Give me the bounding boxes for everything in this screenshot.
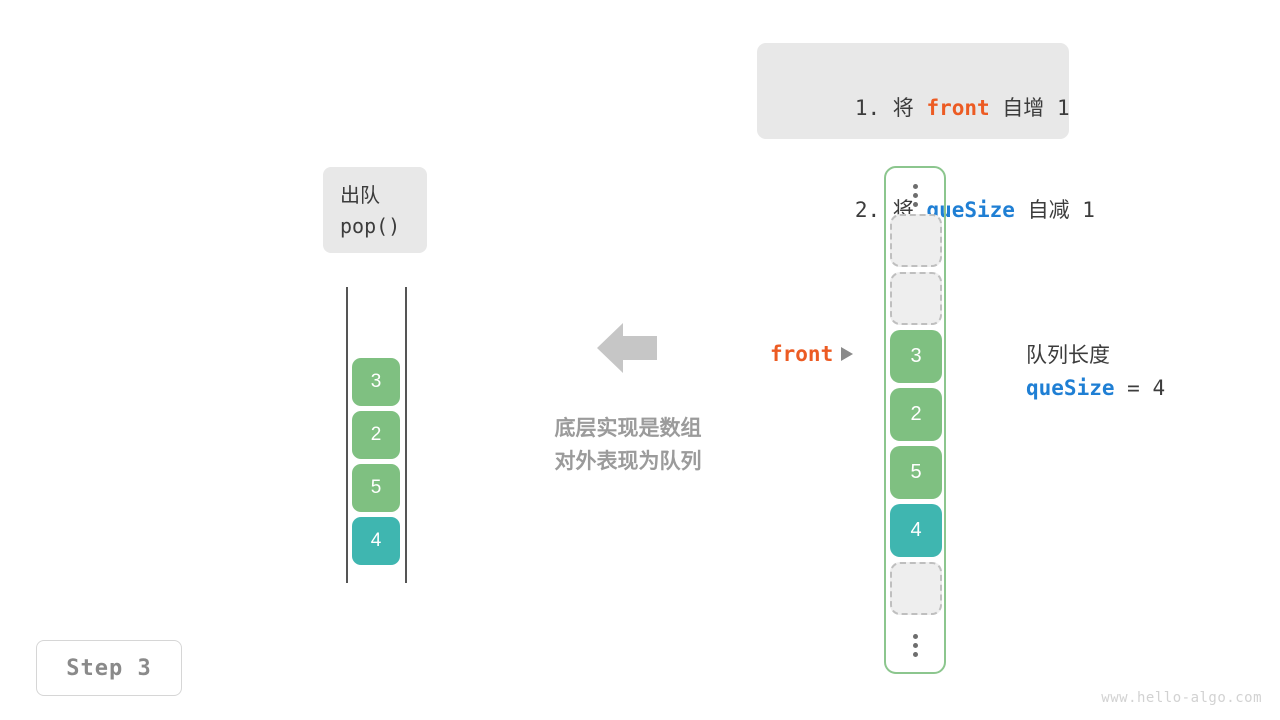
- array-cell: 4: [890, 504, 942, 557]
- vertical-ellipsis-icon: [886, 618, 944, 672]
- front-pointer-label: front: [770, 342, 833, 366]
- watermark: www.hello-algo.com: [1101, 690, 1262, 706]
- operation-label-line-2: pop(): [340, 211, 427, 242]
- queue-cells: 3 2 5 4: [352, 358, 400, 565]
- array-cell: 5: [890, 446, 942, 499]
- ellipsis-dot: [913, 202, 918, 207]
- explanation-line-1: 底层实现是数组: [528, 412, 728, 445]
- front-pointer: front: [770, 342, 853, 366]
- ellipsis-dot: [913, 643, 918, 648]
- left-arrow-icon: [597, 322, 657, 374]
- queue-rail-right: [405, 287, 407, 583]
- queue-cell: 5: [352, 464, 400, 512]
- ellipsis-dot: [913, 193, 918, 198]
- diagram-canvas: 1. 将 front 自增 1 2. 将 queSize 自减 1 出队 pop…: [0, 0, 1280, 720]
- instruction-line-1-keyword: front: [926, 96, 989, 120]
- array-cell: 3: [890, 330, 942, 383]
- ellipsis-dot: [913, 184, 918, 189]
- explanation-line-2: 对外表现为队列: [528, 445, 728, 478]
- ellipsis-dot: [913, 634, 918, 639]
- array-view: 3 2 5 4: [884, 166, 946, 674]
- instruction-line-1-suffix: 自增 1: [990, 96, 1070, 120]
- step-badge-label: Step 3: [66, 656, 151, 681]
- array-cell-empty: [890, 272, 942, 325]
- queue-cell: 2: [352, 411, 400, 459]
- explanation-text: 底层实现是数组 对外表现为队列: [528, 412, 728, 478]
- instruction-line-2-suffix: 自减 1: [1015, 198, 1095, 222]
- array-cell-empty: [890, 562, 942, 615]
- ellipsis-dot: [913, 652, 918, 657]
- queue-rail-left: [346, 287, 348, 583]
- instruction-line-1: 1. 将 front 自增 1: [779, 57, 1047, 159]
- queue-size-var: queSize: [1026, 376, 1115, 400]
- queue-size-value: = 4: [1115, 376, 1166, 400]
- instruction-line-1-prefix: 1. 将: [855, 96, 927, 120]
- queue-cell: 3: [352, 358, 400, 406]
- step-badge: Step 3: [36, 640, 182, 696]
- queue-view: 3 2 5 4: [346, 287, 407, 583]
- operation-label-panel: 出队 pop(): [323, 167, 427, 253]
- queue-size-expression: queSize = 4: [1026, 371, 1165, 405]
- array-cell-empty: [890, 214, 942, 267]
- queue-size-info: 队列长度 queSize = 4: [1026, 340, 1165, 405]
- instruction-panel: 1. 将 front 自增 1 2. 将 queSize 自减 1: [757, 43, 1069, 139]
- array-cell: 2: [890, 388, 942, 441]
- operation-label-line-1: 出队: [340, 180, 427, 211]
- queue-size-title: 队列长度: [1026, 340, 1165, 371]
- array-cells: 3 2 5 4: [890, 214, 942, 620]
- triangle-right-icon: [841, 347, 853, 361]
- queue-cell: 4: [352, 517, 400, 565]
